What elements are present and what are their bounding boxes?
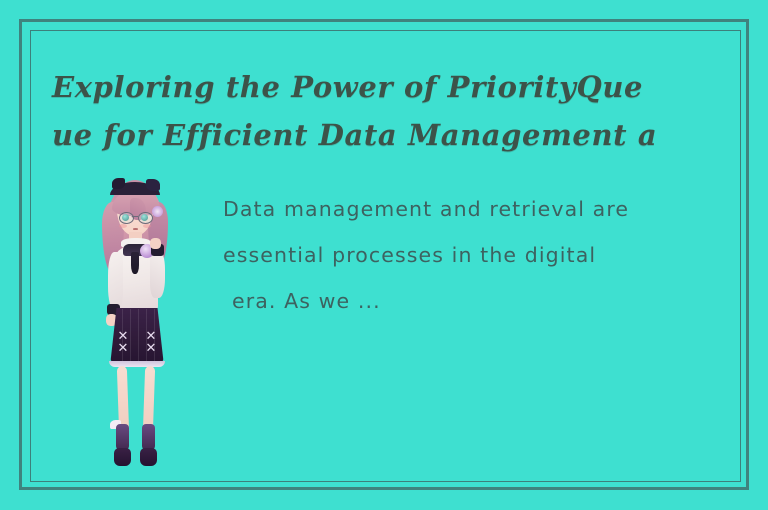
mouth [133, 228, 138, 230]
title-line-1: Exploring the Power of PriorityQue [52, 63, 612, 111]
body-line-3: era. As we ... [223, 278, 703, 324]
skirt-pleat [138, 309, 139, 363]
skirt-hem-lace [109, 361, 165, 367]
headband-bow-right [146, 179, 160, 191]
neck-ribbon [131, 252, 139, 274]
hand-right [150, 238, 161, 249]
boot-shaft [116, 424, 129, 450]
boot-left [114, 424, 131, 466]
headband-bow-left [112, 178, 125, 189]
glasses-lens-left [119, 212, 134, 224]
body-line-1: Data management and retrieval are [223, 186, 703, 232]
slide-body-text: Data management and retrieval are essent… [223, 186, 703, 324]
anime-girl-illustration: ✕ ✕ ✕ ✕ [88, 176, 184, 468]
skirt-pleat [130, 309, 131, 363]
skirt-lace-cross: ✕ [144, 342, 158, 356]
sleeve-left [108, 252, 123, 310]
sleeve-right [150, 250, 165, 298]
boot-foot [140, 448, 157, 466]
blush-left [119, 224, 127, 228]
title-slide: Exploring the Power of PriorityQue ue fo… [0, 0, 768, 510]
title-line-2: ue for Efficient Data Management a [52, 111, 612, 159]
blush-right [143, 224, 151, 228]
boot-right [140, 424, 157, 466]
skirt-lace-cross: ✕ [116, 342, 130, 356]
boot-foot [114, 448, 131, 466]
slide-title: Exploring the Power of PriorityQue ue fo… [52, 63, 612, 159]
glasses-bridge [132, 216, 138, 217]
body-line-2: essential processes in the digital [223, 232, 703, 278]
boot-shaft [142, 424, 155, 450]
glasses-lens-right [138, 212, 153, 224]
flower-hair-clip [152, 206, 163, 217]
